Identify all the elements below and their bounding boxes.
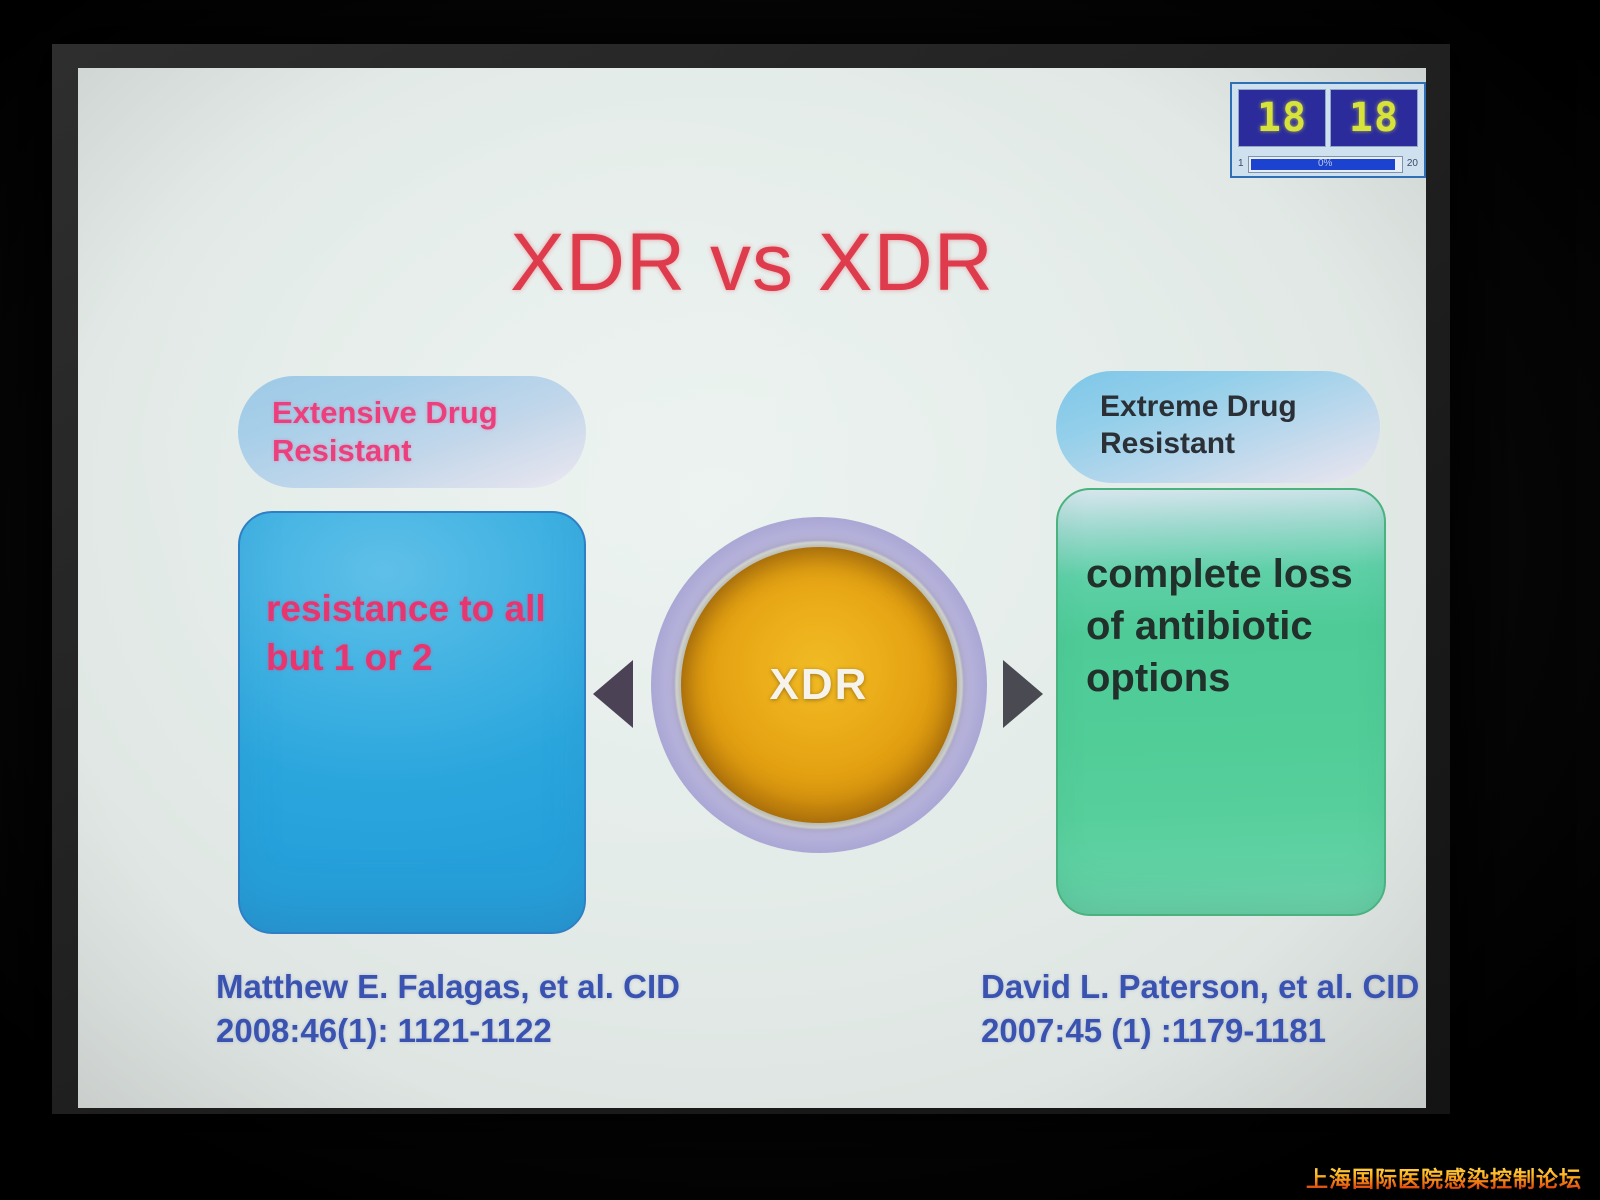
left-citation-line-2: 2008:46(1): 1121-1122 [216, 1009, 816, 1053]
timer-progress-row: 1 0% 20 [1238, 151, 1418, 177]
timer-digits-right: 18 [1330, 89, 1418, 147]
timer-bar-min-label: 1 [1238, 159, 1244, 169]
right-citation-line-2: 2007:45 (1) :1179-1181 [981, 1009, 1426, 1053]
page-title: XDR vs XDR [78, 216, 1426, 310]
timer-display: 18 18 [1238, 89, 1418, 147]
right-definition-pill: Extreme Drug Resistant [1056, 371, 1380, 483]
left-citation: Matthew E. Falagas, et al. CID 2008:46(1… [216, 965, 816, 1053]
forum-watermark: 上海国际医院感染控制论坛 [1306, 1162, 1582, 1194]
presentation-slide: XDR vs XDR 18 18 1 0% 20 Extensive Drug … [78, 68, 1426, 1108]
center-xdr-disc: XDR [681, 547, 957, 823]
left-concept-box: resistance to all but 1 or 2 [238, 511, 586, 934]
left-citation-line-1: Matthew E. Falagas, et al. CID [216, 965, 816, 1009]
center-xdr-node: XDR [651, 517, 987, 853]
right-concept-box: complete loss of antibiotic options [1056, 488, 1386, 916]
arrow-left-icon [593, 660, 633, 728]
timer-progress-percent-label: 0% [1249, 157, 1402, 172]
left-concept-text: resistance to all but 1 or 2 [266, 585, 574, 683]
timer-progress-bar[interactable]: 0% [1248, 156, 1403, 173]
arrow-right-icon [1003, 660, 1043, 728]
left-definition-pill: Extensive Drug Resistant [238, 376, 586, 488]
right-citation-line-1: David L. Paterson, et al. CID [981, 965, 1426, 1009]
center-xdr-label: XDR [770, 660, 869, 710]
timer-digits-left: 18 [1238, 89, 1326, 147]
right-citation: David L. Paterson, et al. CID 2007:45 (1… [981, 965, 1426, 1053]
right-concept-text: complete loss of antibiotic options [1086, 548, 1374, 704]
photographed-room: XDR vs XDR 18 18 1 0% 20 Extensive Drug … [0, 0, 1600, 1200]
presentation-timer-widget[interactable]: 18 18 1 0% 20 [1230, 82, 1426, 178]
timer-bar-max-label: 20 [1407, 159, 1418, 169]
